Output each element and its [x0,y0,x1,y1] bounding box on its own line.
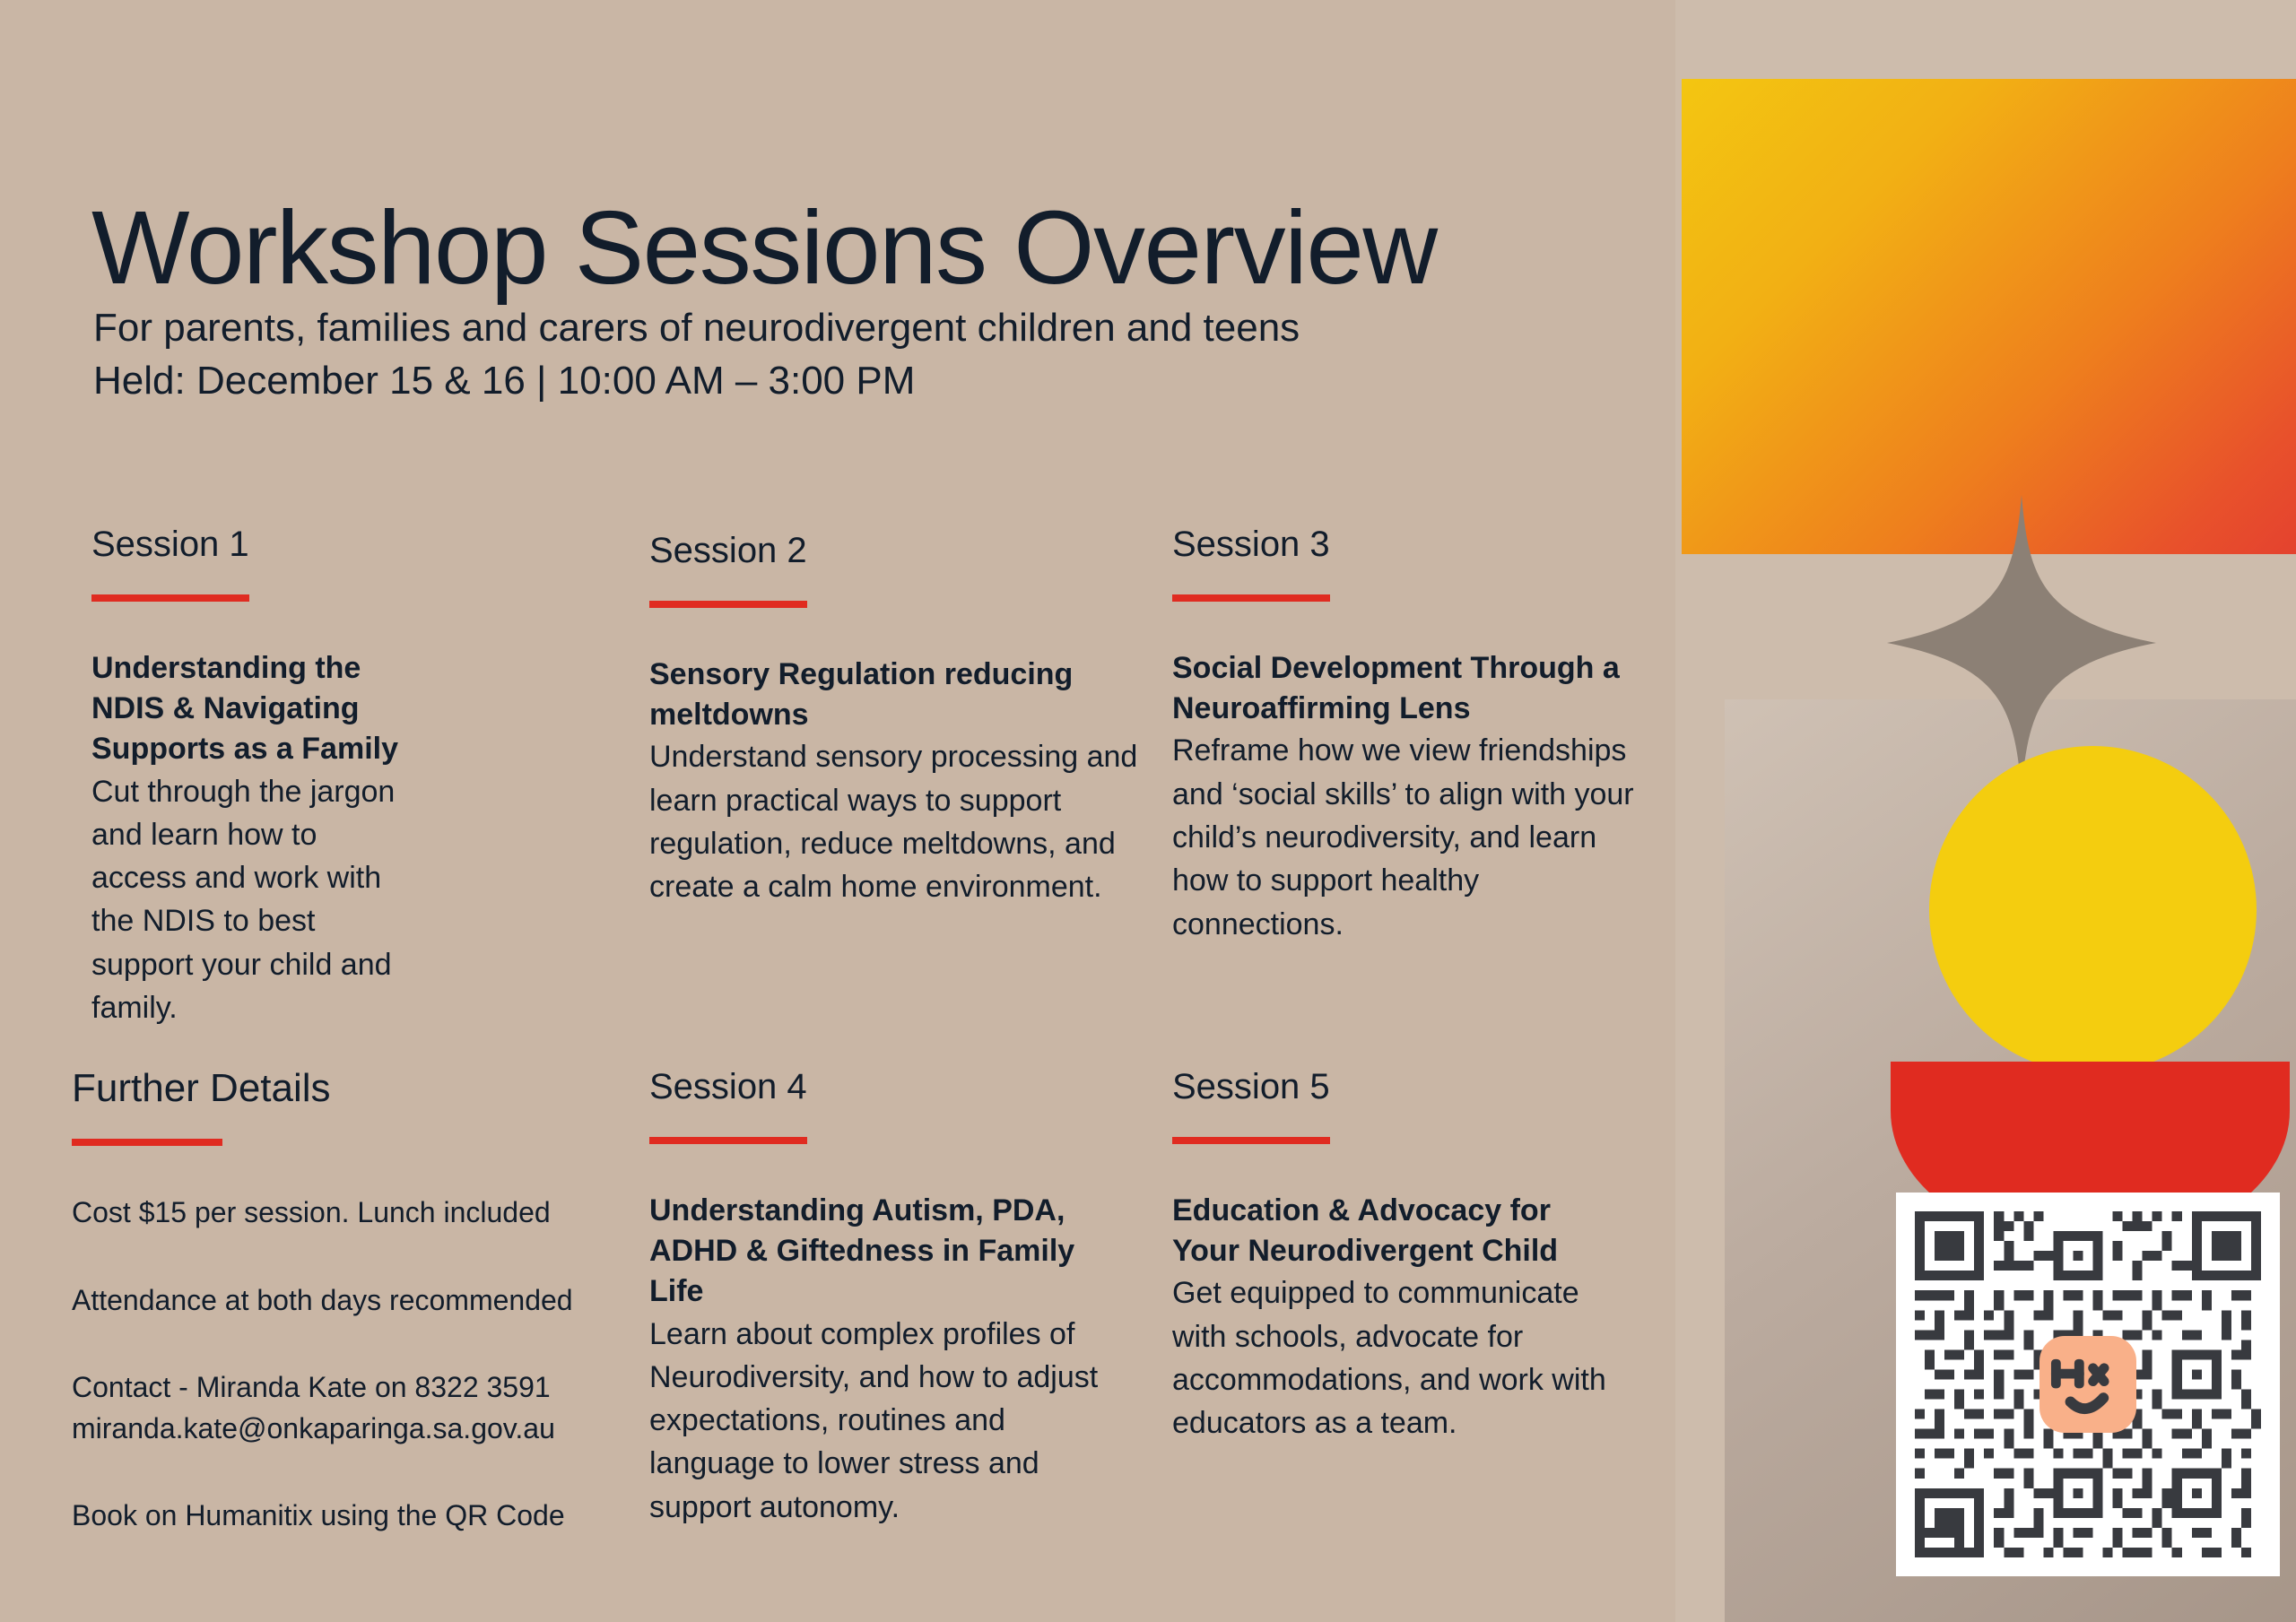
qr-code[interactable] [1896,1193,2280,1576]
session-card-4: Session 4 Understanding Autism, PDA, ADH… [649,1067,1116,1529]
session-card-5: Session 5 Education & Advocacy for Your … [1172,1067,1621,1445]
session-rule-2 [649,601,807,608]
session-heading-2: Sensory Regulation reducing meltdowns [649,655,1138,735]
session-heading-3: Social Development Through a Neuroaffirm… [1172,648,1639,729]
session-body-5: Get equipped to communicate with schools… [1172,1271,1621,1444]
session-card-1: Session 1 Understanding the NDIS & Navig… [91,525,414,1029]
session-label-1: Session 1 [91,525,414,564]
yellow-circle-shape [1929,746,2257,1073]
session-heading-5: Education & Advocacy for Your Neurodiver… [1172,1191,1621,1271]
detail-contact: Contact - Miranda Kate on 8322 3591 mira… [72,1367,628,1449]
poster-content: Workshop Sessions Overview For parents, … [0,0,1675,1622]
session-rule-3 [1172,594,1330,602]
further-details-rule [72,1139,222,1146]
detail-booking: Book on Humanitix using the QR Code [72,1496,628,1536]
four-point-sparkle-icon [1887,495,2156,791]
orange-gradient-rectangle [1682,79,2296,554]
page-title: Workshop Sessions Overview [91,195,1437,299]
humanitix-logo-badge [2039,1336,2136,1433]
detail-cost: Cost $15 per session. Lunch included [72,1193,628,1233]
session-label-2: Session 2 [649,531,1138,570]
session-body-4: Learn about complex profiles of Neurodiv… [649,1313,1116,1529]
session-body-1: Cut through the jargon and learn how to … [91,770,414,1030]
session-rule-1 [91,594,249,602]
session-label-5: Session 5 [1172,1067,1621,1106]
detail-attendance: Attendance at both days recommended [72,1280,628,1321]
session-rule-4 [649,1137,807,1144]
session-body-2: Understand sensory processing and learn … [649,735,1138,908]
poster-canvas: Workshop Sessions Overview For parents, … [0,0,2296,1622]
further-details-label: Further Details [72,1067,628,1110]
session-label-3: Session 3 [1172,525,1639,564]
session-label-4: Session 4 [649,1067,1116,1106]
session-heading-1: Understanding the NDIS & Navigating Supp… [91,648,414,770]
session-card-3: Session 3 Social Development Through a N… [1172,525,1639,946]
subtitle-date-line: Held: December 15 & 16 | 10:00 AM – 3:00… [93,355,1300,408]
session-heading-4: Understanding Autism, PDA, ADHD & Gifted… [649,1191,1116,1313]
session-rule-5 [1172,1137,1330,1144]
session-card-2: Session 2 Sensory Regulation reducing me… [649,531,1138,909]
further-details-card: Further Details Cost $15 per session. Lu… [72,1067,628,1537]
poster-subtitle: For parents, families and carers of neur… [93,302,1300,407]
subtitle-audience-line: For parents, families and carers of neur… [93,302,1300,355]
session-body-3: Reframe how we view friendships and ‘soc… [1172,729,1639,945]
decorative-graphics-panel [1675,0,2296,1622]
